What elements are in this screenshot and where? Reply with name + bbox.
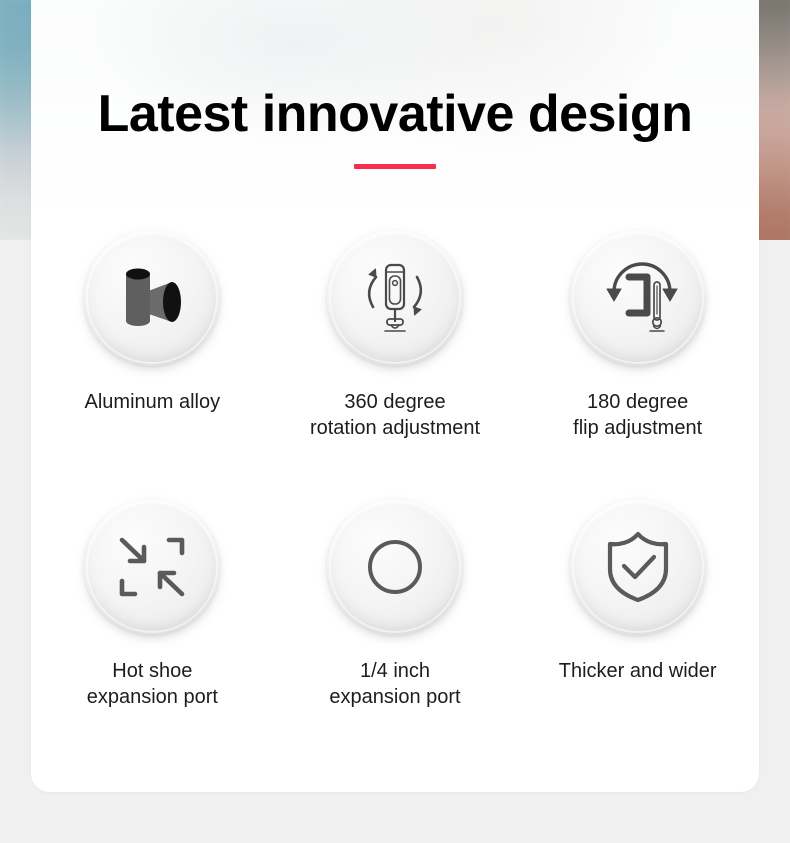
quarter-inch-port-circle-icon: [366, 538, 424, 596]
icon-circle: [84, 499, 220, 635]
icon-circle: [570, 230, 706, 366]
shield-check-icon: [602, 529, 674, 605]
feature-label: 360 degree rotation adjustment: [310, 389, 480, 441]
feature-label: 1/4 inch expansion port: [329, 658, 460, 710]
feature-item-aluminum-alloy[interactable]: Aluminum alloy: [31, 230, 274, 441]
feature-item-hot-shoe-port[interactable]: Hot shoe expansion port: [31, 499, 274, 710]
rotation-360-icon: [351, 257, 439, 339]
feature-item-quarter-inch-port[interactable]: 1/4 inch expansion port: [274, 499, 517, 710]
icon-circle: [570, 499, 706, 635]
page-title: Latest innovative design: [31, 86, 759, 142]
feature-label: Hot shoe expansion port: [87, 658, 218, 710]
icon-circle: [327, 230, 463, 366]
feature-item-thicker-wider[interactable]: Thicker and wider: [516, 499, 759, 710]
icon-circle: [84, 230, 220, 366]
aluminum-tube-icon: [112, 260, 192, 336]
feature-label: Thicker and wider: [559, 658, 717, 684]
page-stage: Latest innovative design: [0, 0, 790, 843]
card-top-rounding: [31, 0, 759, 40]
feature-label: 180 degree flip adjustment: [573, 389, 702, 441]
heading-block: Latest innovative design: [31, 86, 759, 169]
hot-shoe-collapse-icon: [116, 533, 188, 601]
feature-item-360-rotation[interactable]: 360 degree rotation adjustment: [274, 230, 517, 441]
feature-label: Aluminum alloy: [85, 389, 221, 415]
title-accent-underline: [354, 164, 436, 169]
feature-item-180-flip[interactable]: 180 degree flip adjustment: [516, 230, 759, 441]
icon-circle: [327, 499, 463, 635]
flip-180-icon: [592, 256, 684, 340]
feature-grid: Aluminum alloy: [31, 230, 759, 710]
content-card: Latest innovative design: [31, 0, 759, 792]
